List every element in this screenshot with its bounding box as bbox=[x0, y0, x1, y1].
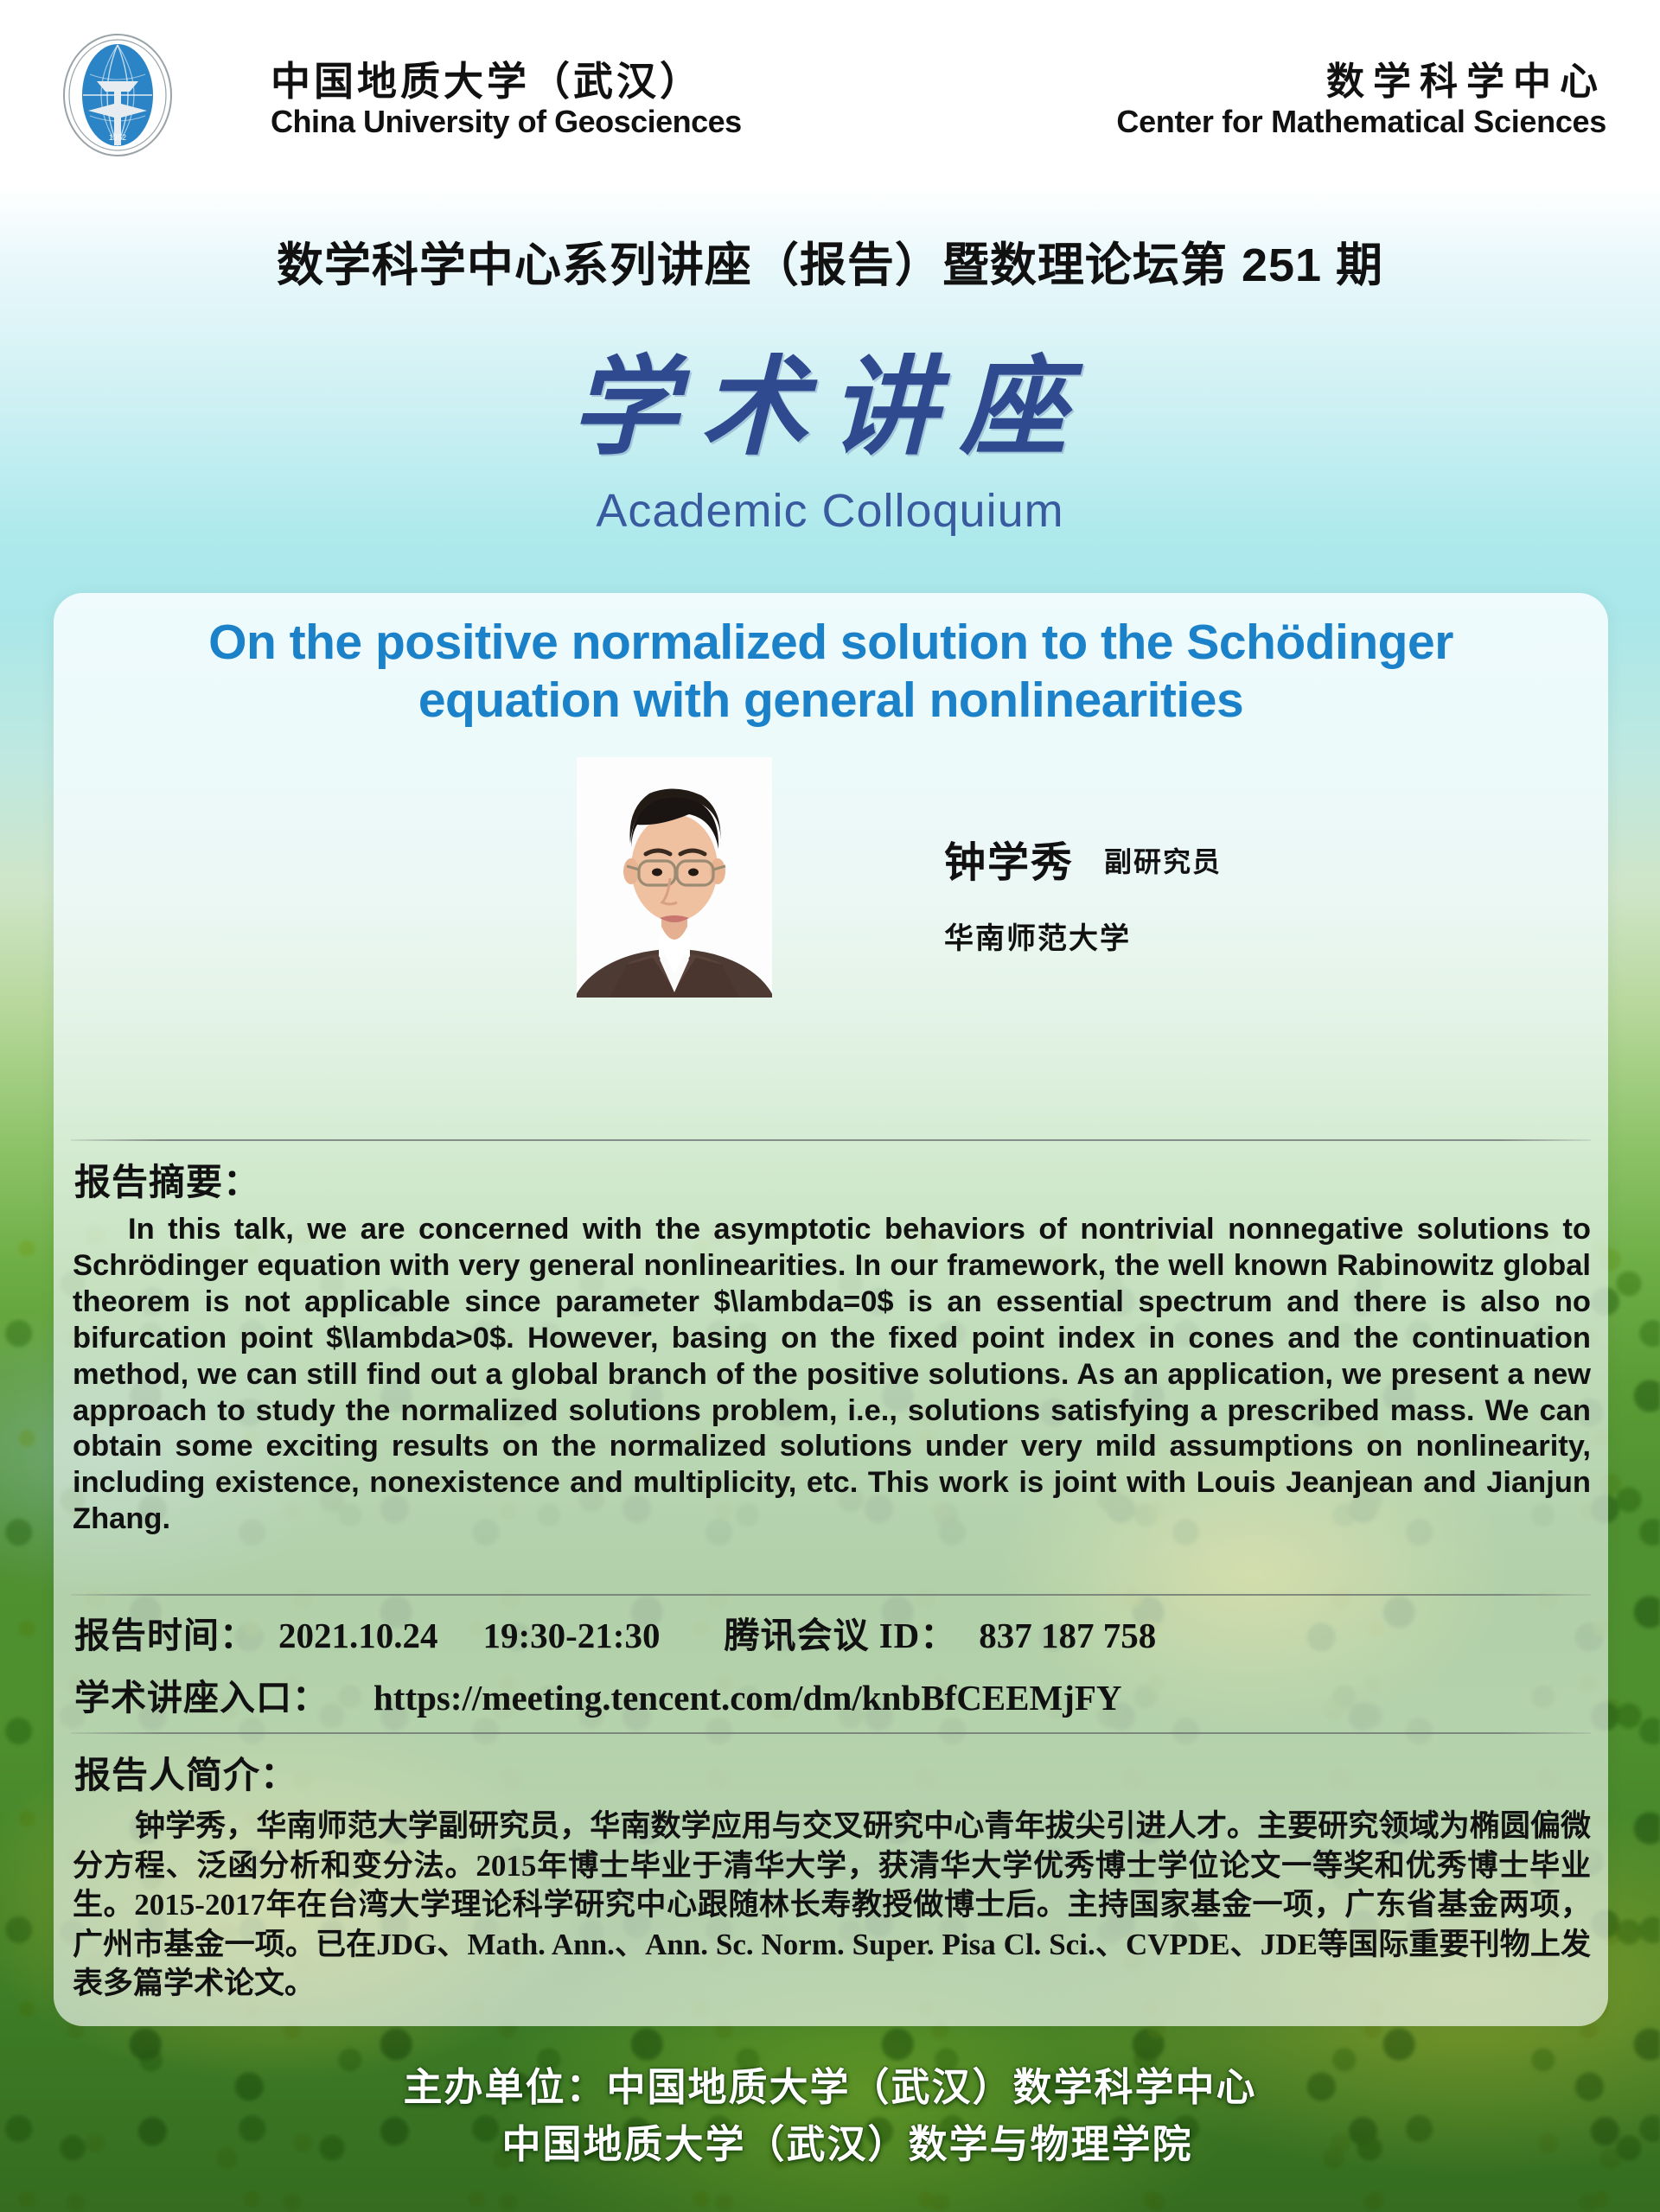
cug-seal-logo-icon: 1952 bbox=[54, 31, 182, 159]
poster-header: 1952 中国地质大学（武汉） China University of Geos… bbox=[0, 0, 1660, 194]
poster-root: 1952 中国地质大学（武汉） China University of Geos… bbox=[0, 0, 1660, 2212]
university-name-en: China University of Geosciences bbox=[271, 104, 742, 140]
speaker-name: 钟学秀 bbox=[944, 828, 1074, 889]
abstract-body: In this talk, we are concerned with the … bbox=[73, 1212, 1591, 1538]
colloquium-title-en: Academic Colloquium bbox=[0, 484, 1660, 538]
bio-label: 报告人简介： bbox=[74, 1746, 297, 1799]
center-name-en: Center for Mathematical Sciences bbox=[1116, 104, 1606, 140]
organizer-line-1: 主办单位：中国地质大学（武汉）数学科学中心 bbox=[403, 2065, 1256, 2109]
university-name-cn: 中国地质大学（武汉） bbox=[271, 50, 703, 107]
abstract-label: 报告摘要： bbox=[74, 1153, 260, 1206]
meeting-id-value: 837 187 758 bbox=[979, 1616, 1156, 1655]
meeting-link-line[interactable]: 学术讲座入口：https://meeting.tencent.com/dm/kn… bbox=[74, 1668, 1122, 1720]
time-label: 报告时间： bbox=[74, 1616, 256, 1655]
meeting-id-label: 腾讯会议 ID： bbox=[724, 1616, 956, 1655]
meeting-link-url[interactable]: https://meeting.tencent.com/dm/knbBfCEEM… bbox=[373, 1678, 1122, 1718]
speaker-portrait-photo bbox=[577, 757, 772, 998]
bio-body: 钟学秀，华南师范大学副研究员，华南数学应用与交叉研究中心青年拔尖引进人才。主要研… bbox=[73, 1807, 1591, 2004]
speaker-affiliation: 华南师范大学 bbox=[944, 915, 1131, 957]
content-card: On the positive normalized solution to t… bbox=[54, 593, 1608, 2026]
organizer-line-2: 中国地质大学（武汉）数学与物理学院 bbox=[0, 2116, 1660, 2173]
series-title: 数学科学中心系列讲座（报告）暨数理论坛第 251 期 bbox=[0, 226, 1660, 295]
speaker-rank: 副研究员 bbox=[1104, 840, 1222, 880]
divider-above-abstract bbox=[71, 1139, 1591, 1141]
meeting-date: 2021.10.24 bbox=[278, 1616, 438, 1655]
link-label: 学术讲座入口： bbox=[74, 1678, 329, 1718]
colloquium-title-cn: 学术讲座 bbox=[0, 320, 1660, 475]
divider-above-bio bbox=[71, 1732, 1591, 1734]
talk-title: On the positive normalized solution to t… bbox=[105, 614, 1556, 729]
divider-above-meeting bbox=[71, 1594, 1591, 1596]
svg-text:1952: 1952 bbox=[109, 133, 126, 142]
organizer-footer: 主办单位：中国地质大学（武汉）数学科学中心 中国地质大学（武汉）数学与物理学院 bbox=[0, 2059, 1660, 2173]
center-name-cn: 数学科学中心 bbox=[1326, 50, 1606, 105]
speaker-block: 钟学秀 副研究员 华南师范大学 bbox=[54, 757, 1608, 1051]
meeting-time-range: 19:30-21:30 bbox=[483, 1616, 661, 1655]
meeting-time-line: 报告时间：2021.10.2419:30-21:30腾讯会议 ID：837 18… bbox=[74, 1606, 1156, 1658]
